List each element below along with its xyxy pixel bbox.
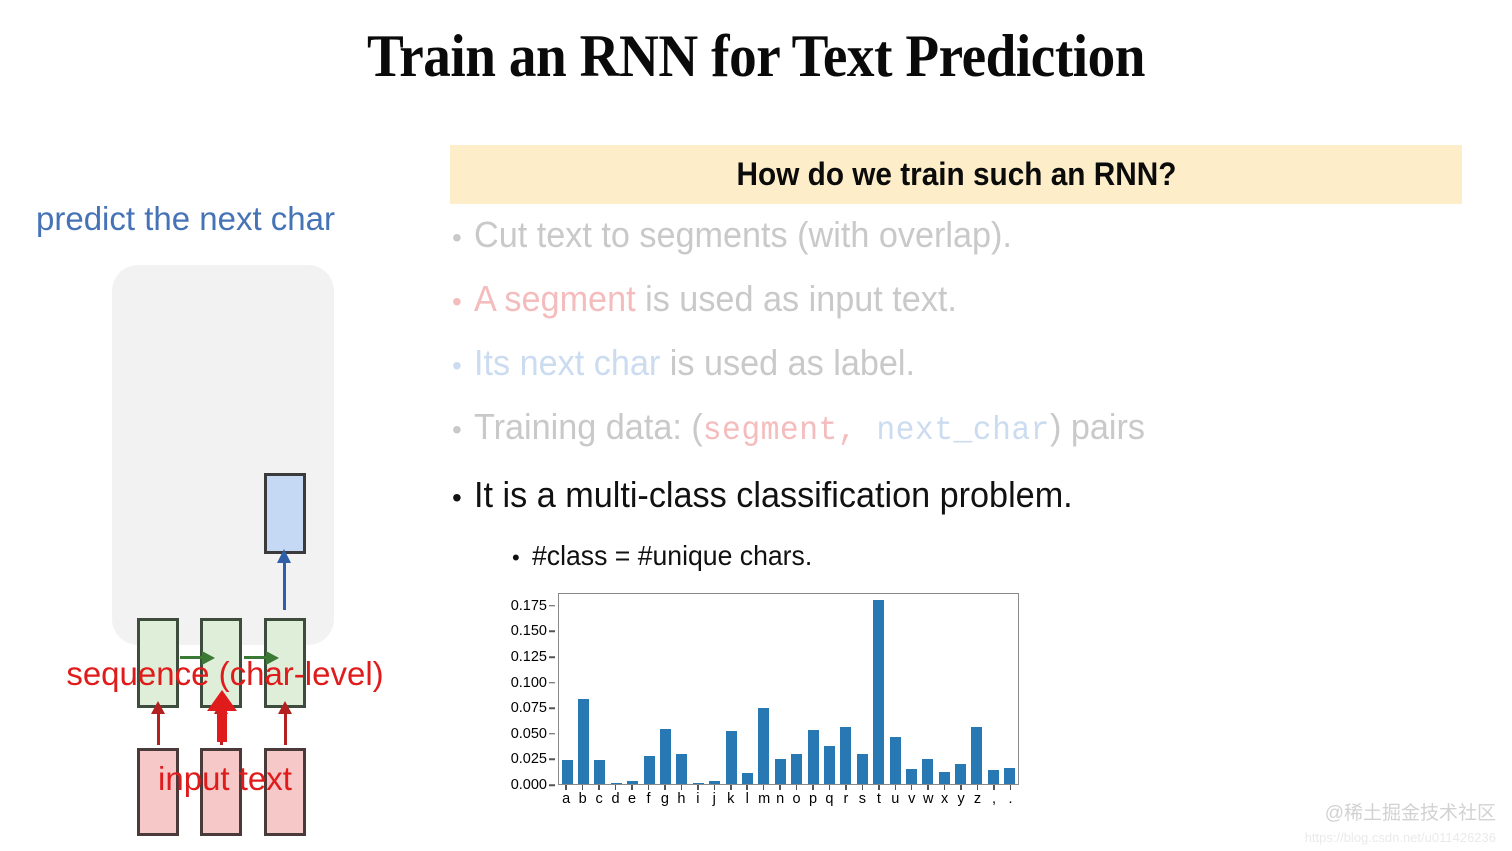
chart-bar (808, 730, 819, 784)
chart-y-tick-mark (549, 682, 555, 684)
bullet-text: It is a multi-class classification probl… (474, 474, 1073, 515)
input-text-arrow-up-icon (217, 710, 227, 742)
chart-bar (693, 783, 704, 784)
chart-x-tick-mark (873, 785, 884, 790)
chart-x-tick-label: u (890, 791, 901, 807)
chart-x-tick-label: n (775, 791, 786, 807)
rnn-diagram-panel (112, 265, 334, 645)
chart-bar (922, 759, 933, 784)
bullet-item-a-segment: • A segment is used as input text. (452, 278, 1502, 334)
chart-x-tick-label: k (725, 791, 736, 807)
chart-x-tick-label: b (577, 791, 588, 807)
chart-x-tick-label: p (808, 791, 819, 807)
chart-bar (824, 746, 835, 784)
chart-x-tick-label: r (840, 791, 851, 807)
rnn-diagram: predict the next char sequence (char-lev… (0, 190, 450, 830)
chart-x-tick-mark (643, 785, 654, 790)
chart-bar (971, 727, 982, 784)
chart-x-tick-label: s (857, 791, 868, 807)
chart-x-tick-label: v (906, 791, 917, 807)
chart-x-tick-label: i (692, 791, 703, 807)
chart-x-tick-label: l (742, 791, 753, 807)
chart-x-tick-mark (775, 785, 786, 790)
bullet-text: is used as input text. (635, 278, 956, 319)
chart-x-tick-mark (610, 785, 621, 790)
chart-x-tick-mark (692, 785, 703, 790)
sequence-label: sequence (char-level) (0, 655, 450, 693)
bullet-list: • Cut text to segments (with overlap). •… (452, 214, 1502, 580)
bullet-dot-icon: • (452, 484, 462, 512)
chart-x-tick-label: x (939, 791, 950, 807)
chart-x-tick-mark (758, 785, 769, 790)
chart-x-tick-mark (808, 785, 819, 790)
chart-x-tick-label: m (758, 791, 769, 807)
chart-bar (709, 781, 720, 784)
input-text-label: input text (0, 760, 450, 798)
chart-bar (594, 760, 605, 784)
chart-y-tick-label: 0.050 (511, 726, 547, 742)
chart-x-tick-mark (791, 785, 802, 790)
chart-x-tick-label: c (594, 791, 605, 807)
bullet-item-next-char: • Its next char is used as label. (452, 342, 1502, 398)
bullet-text-tail: ) pairs (1050, 406, 1145, 447)
chart-x-tick-label: e (627, 791, 638, 807)
code-comma: , (838, 412, 877, 449)
bullet-dot-icon: • (452, 288, 462, 316)
chart-y-tick-label: 0.175 (511, 598, 547, 614)
chart-x-tick-label: w (923, 791, 934, 807)
bullet-item-multiclass: • It is a multi-class classification pro… (452, 474, 1502, 532)
bullet-item-cut-text: • Cut text to segments (with overlap). (452, 214, 1502, 270)
chart-x-tick-mark (561, 785, 572, 790)
chart-x-tick-mark (627, 785, 638, 790)
bullet-dot-icon: • (452, 352, 462, 380)
bullet-text: is used as label. (660, 342, 915, 383)
chart-bar (627, 781, 638, 784)
chart-x-tick-label: t (873, 791, 884, 807)
question-banner: How do we train such an RNN? (450, 145, 1462, 204)
bullet-text-highlight: Its next char (474, 342, 660, 383)
chart-y-tick-mark (549, 784, 555, 786)
chart-bar (726, 731, 737, 784)
chart-y-tick-mark (549, 656, 555, 658)
chart-bar (890, 737, 901, 784)
chart-y-tick-mark (549, 605, 555, 607)
chart-x-tick-mark (676, 785, 687, 790)
chart-x-tick-mark (890, 785, 901, 790)
chart-x-tick-mark (923, 785, 934, 790)
bullet-text-highlight: A segment (474, 278, 636, 319)
chart-x-tick-label: g (659, 791, 670, 807)
chart-x-tick-mark (857, 785, 868, 790)
input-arrow-up-icon-3 (284, 713, 287, 745)
chart-x-tick-mark (742, 785, 753, 790)
chart-x-ticks (558, 785, 1019, 790)
code-next-char: next_char (876, 412, 1050, 449)
watermark-handle: @稀土掘金技术社区 (1325, 798, 1496, 825)
chart-bar (906, 769, 917, 784)
chart-bar (791, 754, 802, 784)
chart-bar (857, 754, 868, 784)
chart-x-tick-mark (840, 785, 851, 790)
chart-y-tick-label: 0.100 (511, 675, 547, 691)
bullet-item-training-data: • Training data: (segment, next_char) pa… (452, 406, 1502, 466)
chart-x-tick-mark (577, 785, 588, 790)
chart-bar (873, 600, 884, 784)
chart-bar (939, 772, 950, 784)
bullet-dot-icon: • (452, 416, 462, 444)
chart-x-tick-label: o (791, 791, 802, 807)
chart-x-tick-mark (989, 785, 1000, 790)
chart-y-tick-mark (549, 733, 555, 735)
page-title: Train an RNN for Text Prediction (60, 22, 1451, 91)
chart-x-tick-label: f (643, 791, 654, 807)
chart-y-tick-mark (549, 759, 555, 761)
chart-y-tick-mark (549, 631, 555, 633)
chart-x-tick-mark (972, 785, 983, 790)
chart-bar (742, 773, 753, 784)
chart-x-tick-mark (824, 785, 835, 790)
chart-x-tick-mark (1005, 785, 1016, 790)
chart-bar (775, 759, 786, 784)
chart-x-tick-mark (939, 785, 950, 790)
chart-bar (758, 708, 769, 784)
bullet-dot-icon: • (452, 224, 462, 252)
bullet-text: #class = #unique chars. (532, 540, 812, 571)
output-box (264, 473, 306, 554)
chart-x-tick-mark (659, 785, 670, 790)
chart-bar (562, 760, 573, 784)
chart-x-tick-mark (956, 785, 967, 790)
output-arrow-up-icon (283, 562, 286, 610)
chart-x-tick-mark (594, 785, 605, 790)
chart-x-tick-label: . (1005, 791, 1016, 807)
chart-bars (559, 594, 1018, 784)
chart-x-tick-label: j (709, 791, 720, 807)
chart-y-tick-label: 0.025 (511, 751, 547, 767)
char-frequency-chart: 0.0000.0250.0500.0750.1000.1250.1500.175… (503, 588, 1023, 810)
bullet-item-class-count: • #class = #unique chars. (512, 540, 1502, 572)
bullet-text: Training data: ( (474, 406, 703, 447)
chart-x-tick-label: z (972, 791, 983, 807)
chart-bar (660, 729, 671, 784)
bullet-text: Cut text to segments (with overlap). (474, 214, 1012, 255)
chart-x-tick-label: , (989, 791, 1000, 807)
chart-x-tick-label: q (824, 791, 835, 807)
chart-bar (988, 770, 999, 784)
chart-x-tick-mark (906, 785, 917, 790)
chart-bar (676, 754, 687, 784)
chart-y-tick-label: 0.000 (511, 777, 547, 793)
chart-plot-area (558, 593, 1019, 785)
chart-x-tick-label: h (676, 791, 687, 807)
chart-bar (611, 783, 622, 784)
chart-bar (955, 764, 966, 784)
chart-y-tick-mark (549, 707, 555, 709)
chart-y-tick-label: 0.125 (511, 649, 547, 665)
input-arrow-up-icon-1 (157, 713, 160, 745)
watermark-url: https://blog.csdn.net/u011426236 (1305, 830, 1496, 845)
code-segment: segment (703, 412, 838, 449)
chart-bar (1004, 768, 1015, 784)
predict-next-char-label: predict the next char (36, 200, 335, 238)
question-banner-text: How do we train such an RNN? (736, 156, 1176, 193)
chart-x-tick-mark (709, 785, 720, 790)
chart-x-tick-label: y (956, 791, 967, 807)
chart-x-tick-mark (725, 785, 736, 790)
chart-y-tick-label: 0.150 (511, 623, 547, 639)
chart-bar (840, 727, 851, 784)
bullet-dot-icon: • (512, 547, 520, 569)
chart-bar (644, 756, 655, 784)
chart-y-tick-label: 0.075 (511, 700, 547, 716)
chart-bar (578, 699, 589, 784)
chart-x-axis-labels: abcdefghijklmnopqrstuvwxyz,. (558, 791, 1019, 807)
chart-x-tick-label: d (610, 791, 621, 807)
chart-x-tick-label: a (561, 791, 572, 807)
chart-y-axis: 0.0000.0250.0500.0750.1000.1250.1500.175 (503, 588, 555, 785)
